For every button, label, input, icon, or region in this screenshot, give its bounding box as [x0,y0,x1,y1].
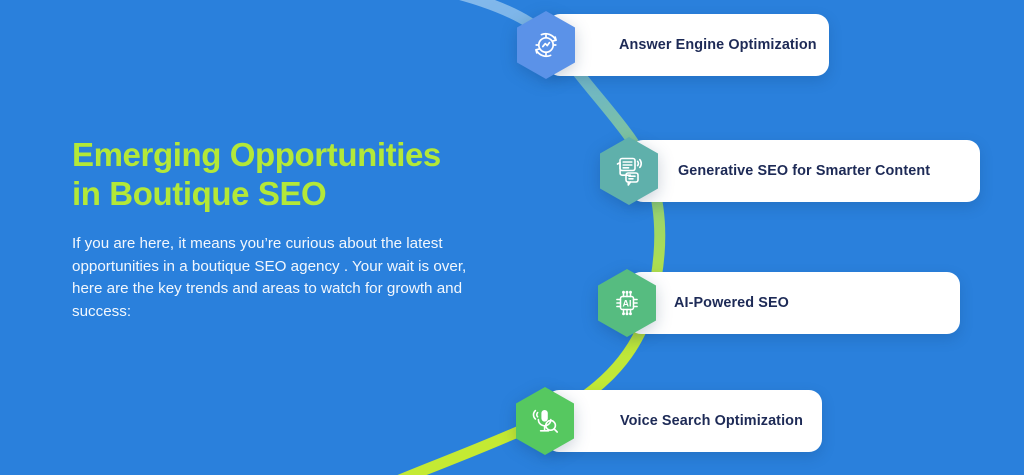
hex-badge [508,384,582,458]
page-title: Emerging Opportunities in Boutique SEO [72,136,502,213]
hex-badge [590,266,664,340]
hex-badge [509,8,583,82]
card-panel[interactable]: Generative SEO for Smarter Content [630,140,980,202]
card-panel[interactable]: Voice Search Optimization [546,390,822,452]
card-panel[interactable]: AI-Powered SEO [628,272,960,334]
card-label: AI-Powered SEO [674,295,789,311]
intro-text-block: Emerging Opportunities in Boutique SEO I… [72,136,502,323]
card-label: Generative SEO for Smarter Content [678,163,930,179]
card-label: Answer Engine Optimization [619,37,817,53]
card-label: Voice Search Optimization [620,413,803,429]
infographic-canvas: Emerging Opportunities in Boutique SEO I… [0,0,1024,475]
hex-badge [592,134,666,208]
card-panel[interactable]: Answer Engine Optimization [547,14,829,76]
intro-paragraph: If you are here, it means you’re curious… [72,233,492,323]
